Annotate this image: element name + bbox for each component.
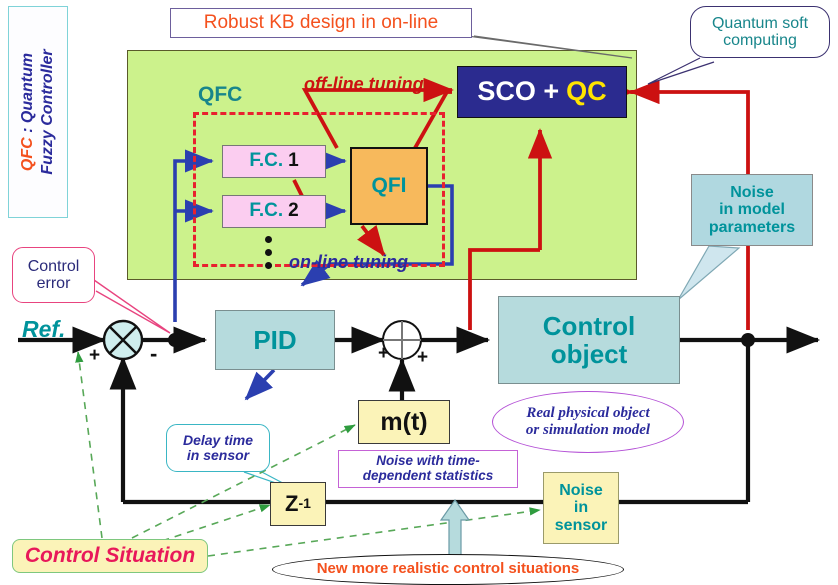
z-base: Z xyxy=(285,492,298,516)
side-title-abbr: QFC xyxy=(19,137,36,171)
block-sco-qc[interactable]: SCO + QC xyxy=(457,66,627,118)
real-obj-line2: or simulation model xyxy=(526,422,650,439)
delay-time-callout: Delay time in sensor xyxy=(166,424,270,472)
diagram-canvas: Robust KB design in on-line QFC : Quantu… xyxy=(0,0,838,585)
noise-model-line3: parameters xyxy=(709,219,795,236)
block-fc2[interactable]: F.C. 2 xyxy=(222,195,326,228)
node-error xyxy=(168,333,182,347)
control-error-line1: Control xyxy=(28,258,80,275)
noise-stat-line2: dependent statistics xyxy=(363,469,494,484)
sco-white-text: SCO + xyxy=(477,77,559,106)
block-pid[interactable]: PID xyxy=(215,310,335,370)
label-on-line-tuning: on-line tuning xyxy=(289,252,408,273)
qfc-label: QFC xyxy=(198,82,268,108)
side-title-line2: Fuzzy Controller xyxy=(39,49,56,174)
ellipsis-dot xyxy=(265,236,272,243)
node-plant-output xyxy=(741,333,755,347)
side-title-panel: QFC : Quantum Fuzzy Controller xyxy=(8,6,68,218)
control-situation-label: Control Situation xyxy=(12,539,208,573)
noise-statistics-label: Noise with time- dependent statistics xyxy=(338,450,518,488)
real-obj-line1: Real physical object xyxy=(526,405,649,422)
real-object-annotation: Real physical object or simulation model xyxy=(492,391,684,453)
sign-sum2-plus-bottom: + xyxy=(417,347,428,369)
label-reference: Ref. xyxy=(22,316,65,343)
fc1-prefix: F.C. xyxy=(249,151,283,172)
control-object-line1: Control xyxy=(543,312,635,340)
noise-model-line1: Noise xyxy=(730,184,774,201)
label-off-line-tuning: off-line tuning xyxy=(304,74,424,95)
control-error-line2: error xyxy=(37,275,71,292)
control-error-callout: Control error xyxy=(12,247,95,303)
qsc-line1: Quantum soft xyxy=(712,15,808,32)
z-exponent: -1 xyxy=(299,496,311,511)
upward-arrow xyxy=(441,500,469,556)
fc2-index: 2 xyxy=(288,201,299,222)
noise-sensor-line2: in xyxy=(574,499,588,516)
block-control-object[interactable]: Control object xyxy=(498,296,680,384)
control-object-line2: object xyxy=(551,340,628,368)
block-noise-in-sensor: Noise in sensor xyxy=(543,472,619,544)
sco-yellow-text: QC xyxy=(566,77,607,106)
qsc-line2: computing xyxy=(723,32,797,49)
delay-line2: in sensor xyxy=(187,448,249,463)
sign-sum1-minus: - xyxy=(150,341,157,367)
block-fc1[interactable]: F.C. 1 xyxy=(222,145,326,178)
ellipsis-dot xyxy=(265,249,272,256)
block-mt[interactable]: m(t) xyxy=(358,400,450,444)
new-situations-annotation: New more realistic control situations xyxy=(272,554,624,585)
header-banner: Robust KB design in on-line xyxy=(170,8,472,38)
sign-sum1-plus: + xyxy=(89,345,100,367)
node-plant-input xyxy=(463,333,477,347)
quantum-soft-computing-callout: Quantum soft computing xyxy=(690,6,830,58)
noise-stat-line1: Noise with time- xyxy=(376,454,480,469)
block-qfi[interactable]: QFI xyxy=(350,147,428,225)
delay-line1: Delay time xyxy=(183,433,253,448)
fc1-index: 1 xyxy=(288,151,299,172)
sign-sum2-plus-left: + xyxy=(378,343,389,365)
noise-sensor-line3: sensor xyxy=(555,517,607,534)
block-z-inverse[interactable]: Z-1 xyxy=(270,482,326,526)
block-noise-in-model-parameters: Noise in model parameters xyxy=(691,174,813,246)
summing-junction-1 xyxy=(104,321,142,359)
noise-model-line2: in model xyxy=(719,201,785,218)
fc2-prefix: F.C. xyxy=(249,201,283,222)
side-title-expansion: : Quantum xyxy=(19,53,36,137)
noise-sensor-line1: Noise xyxy=(559,482,603,499)
ellipsis-dot xyxy=(265,262,272,269)
